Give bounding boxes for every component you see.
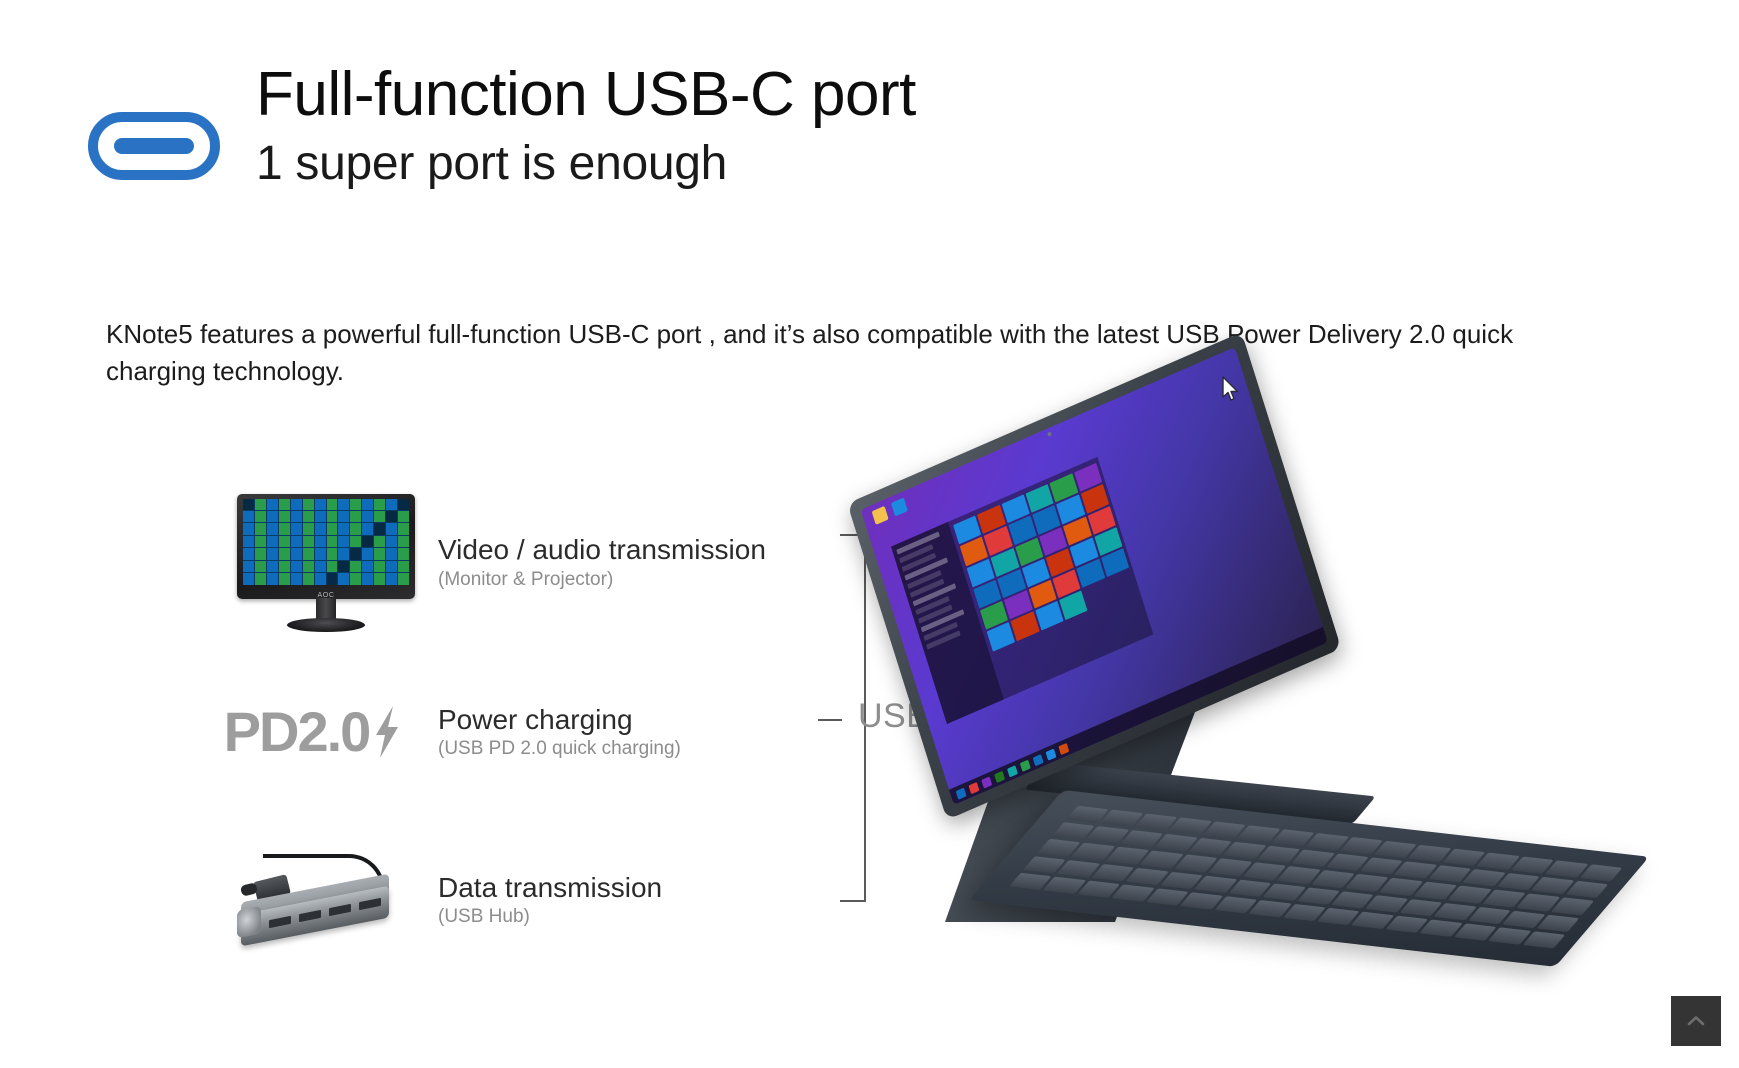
tile	[255, 511, 266, 522]
usb-hub-image	[237, 848, 415, 952]
tile	[362, 548, 373, 559]
usb-c-bracket-tick	[818, 719, 842, 721]
tile	[374, 499, 385, 510]
pd-logo-visual: PD2.0	[228, 657, 424, 807]
tile	[350, 536, 361, 547]
tile	[255, 499, 266, 510]
device-front-camera	[1047, 431, 1052, 436]
tile	[350, 499, 361, 510]
usb-hub-visual	[228, 835, 424, 965]
tile	[350, 511, 361, 522]
tile	[255, 561, 266, 572]
tile	[243, 499, 254, 510]
tile	[398, 548, 409, 559]
tile	[374, 511, 385, 522]
tile	[315, 511, 326, 522]
feature-label-video-audio: Video / audio transmission (Monitor & Pr…	[438, 534, 766, 590]
tile	[362, 523, 373, 534]
pd-logo-text: PD2.0	[224, 704, 370, 760]
tile	[386, 536, 397, 547]
tile	[279, 511, 290, 522]
tile	[994, 770, 1005, 782]
tile	[1565, 881, 1608, 899]
tile	[267, 573, 278, 584]
tile	[338, 499, 349, 510]
tile	[279, 561, 290, 572]
feature-row-video-audio: AOC Video / audio transmission (Monitor …	[228, 485, 868, 640]
tile	[327, 561, 338, 572]
tile	[255, 573, 266, 584]
feature-subtitle: (Monitor & Projector)	[438, 569, 766, 591]
tile	[315, 573, 326, 584]
usb-hub-end-cap	[237, 906, 261, 939]
tile	[386, 573, 397, 584]
tile	[303, 536, 314, 547]
lightning-bolt-icon	[374, 706, 400, 758]
tile	[1536, 914, 1579, 932]
tile	[338, 536, 349, 547]
monitor-screen	[243, 499, 409, 585]
folder-icon	[872, 506, 889, 525]
feature-subtitle: (USB PD 2.0 quick charging)	[438, 738, 681, 760]
tile	[279, 536, 290, 547]
tile	[1522, 931, 1565, 948]
feature-title: Power charging	[438, 704, 681, 735]
tile	[968, 782, 979, 794]
tile	[279, 573, 290, 584]
tile	[398, 561, 409, 572]
tile	[303, 499, 314, 510]
tile	[386, 499, 397, 510]
tile	[981, 776, 992, 788]
tile	[362, 499, 373, 510]
feature-title: Video / audio transmission	[438, 534, 766, 565]
tile	[350, 548, 361, 559]
tile	[291, 573, 302, 584]
tile	[1033, 754, 1044, 766]
tile	[398, 536, 409, 547]
tile	[386, 523, 397, 534]
tile	[267, 548, 278, 559]
tile	[315, 499, 326, 510]
tile	[338, 573, 349, 584]
tile	[303, 511, 314, 522]
tile	[303, 561, 314, 572]
tile	[315, 561, 326, 572]
body-paragraph: KNote5 features a powerful full-function…	[106, 316, 1526, 390]
feature-label-data-transmission: Data transmission (USB Hub)	[438, 872, 662, 928]
tile	[398, 511, 409, 522]
tile	[350, 573, 361, 584]
tile	[243, 548, 254, 559]
tile	[398, 499, 409, 510]
monitor-visual: AOC	[228, 485, 424, 640]
tile	[315, 536, 326, 547]
tile	[267, 511, 278, 522]
tile	[267, 561, 278, 572]
knote5-device-image	[945, 490, 1705, 950]
tile	[267, 523, 278, 534]
tile	[279, 523, 290, 534]
tile	[255, 548, 266, 559]
feature-subtitle: (USB Hub)	[438, 906, 662, 928]
feature-label-power-charging: Power charging (USB PD 2.0 quick chargin…	[438, 704, 681, 760]
tile	[374, 536, 385, 547]
scroll-to-top-button[interactable]	[1671, 996, 1721, 1046]
tile	[955, 787, 966, 799]
tile	[303, 548, 314, 559]
monitor-image: AOC	[237, 494, 415, 632]
device-keycaps	[1009, 806, 1622, 949]
tile	[327, 511, 338, 522]
header-text-block: Full-function USB-C port 1 super port is…	[256, 62, 916, 194]
tile	[374, 561, 385, 572]
tile	[374, 548, 385, 559]
tile	[362, 536, 373, 547]
monitor-stand-base	[287, 618, 365, 632]
tile	[291, 561, 302, 572]
tile	[267, 499, 278, 510]
tile	[291, 511, 302, 522]
feature-row-data-transmission: Data transmission (USB Hub)	[228, 835, 868, 965]
tile	[374, 573, 385, 584]
tile	[267, 536, 278, 547]
tile	[386, 548, 397, 559]
tile	[243, 573, 254, 584]
tile	[291, 536, 302, 547]
page-subtitle: 1 super port is enough	[256, 134, 916, 194]
desktop-icons	[872, 498, 908, 525]
tile	[243, 561, 254, 572]
tile	[315, 523, 326, 534]
tile	[291, 523, 302, 534]
tile	[279, 548, 290, 559]
usb-c-port-icon	[88, 112, 220, 180]
tile	[243, 523, 254, 534]
tile	[291, 548, 302, 559]
tile	[1007, 765, 1018, 777]
tile	[303, 523, 314, 534]
tile	[327, 499, 338, 510]
tile	[398, 573, 409, 584]
tile	[338, 511, 349, 522]
tile	[350, 523, 361, 534]
tile	[315, 548, 326, 559]
feature-title: Data transmission	[438, 872, 662, 903]
page-root: Full-function USB-C port 1 super port is…	[0, 0, 1739, 1068]
tile	[362, 573, 373, 584]
tile	[327, 548, 338, 559]
tile	[291, 499, 302, 510]
tile	[1551, 898, 1594, 916]
tile	[338, 548, 349, 559]
tile	[243, 536, 254, 547]
tile	[386, 561, 397, 572]
windows-start-menu	[891, 457, 1153, 724]
tile	[374, 523, 385, 534]
tile	[338, 561, 349, 572]
chevron-up-icon	[1686, 1011, 1706, 1031]
tile	[327, 523, 338, 534]
tile	[386, 511, 397, 522]
header: Full-function USB-C port 1 super port is…	[88, 62, 916, 194]
tile	[398, 523, 409, 534]
feature-row-power-charging: PD2.0 Power charging (USB PD 2.0 quick c…	[228, 657, 868, 807]
device-tablet	[847, 332, 1341, 820]
tile	[338, 523, 349, 534]
tile	[1058, 742, 1069, 754]
pd-2-0-logo: PD2.0	[224, 704, 401, 760]
tile	[1020, 759, 1031, 771]
tile	[279, 499, 290, 510]
tile	[1579, 864, 1622, 881]
app-icon	[891, 498, 908, 517]
tile	[1045, 748, 1056, 760]
tile	[255, 536, 266, 547]
tile	[350, 561, 361, 572]
tile	[327, 536, 338, 547]
tile	[327, 573, 338, 584]
tile	[362, 561, 373, 572]
tile	[362, 511, 373, 522]
tile	[255, 523, 266, 534]
tile	[303, 573, 314, 584]
tile	[243, 511, 254, 522]
page-title: Full-function USB-C port	[256, 62, 916, 128]
